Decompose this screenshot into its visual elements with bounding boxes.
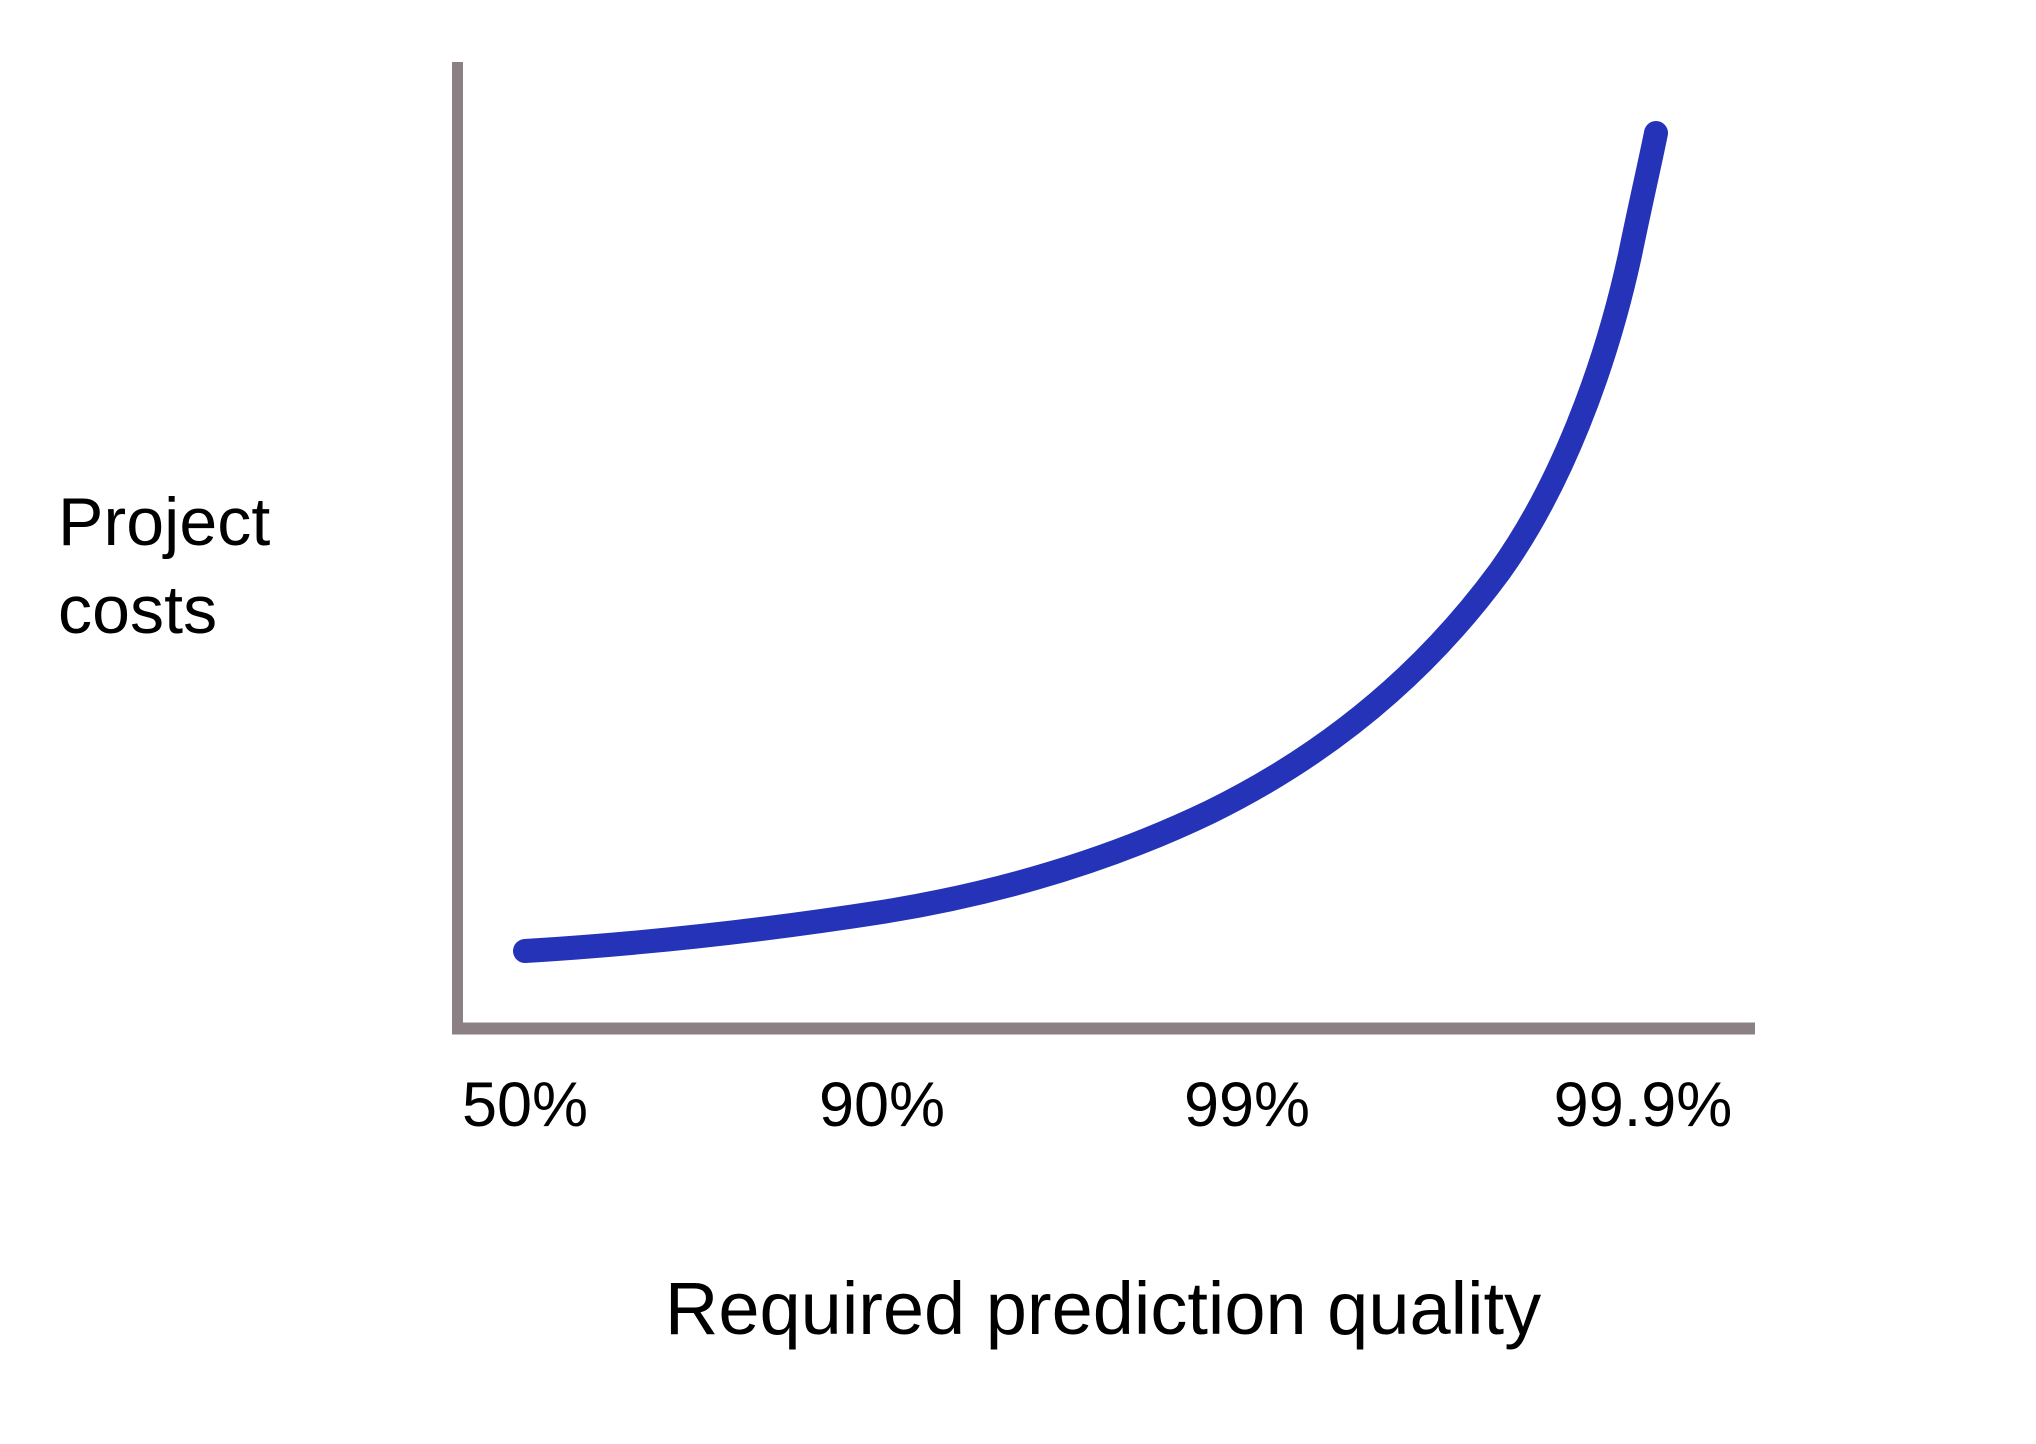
y-axis-label: Project costs — [58, 478, 418, 655]
x-axis-title: Required prediction quality — [665, 1272, 1541, 1346]
chart-figure: Project costs 50% 90% 99% 99.9% Required… — [0, 0, 2036, 1444]
chart-plot-area — [0, 0, 2036, 1444]
cost-curve — [525, 133, 1656, 951]
x-tick-label-99: 99% — [1184, 1074, 1310, 1137]
x-tick-label-99-9: 99.9% — [1554, 1074, 1733, 1137]
x-tick-label-90: 90% — [819, 1074, 945, 1137]
x-tick-label-50: 50% — [462, 1074, 588, 1137]
